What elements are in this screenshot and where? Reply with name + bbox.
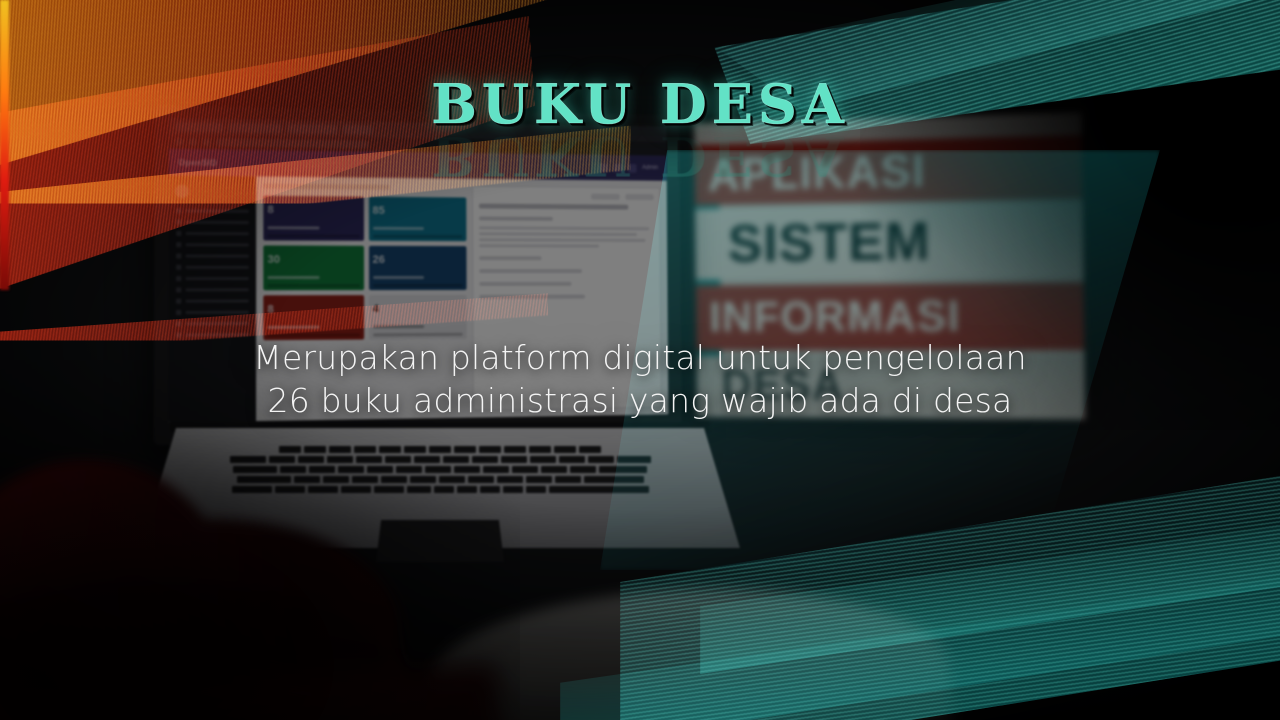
slide-body-line-1: Merupakan platform digital untuk pengelo… (0, 337, 1280, 380)
slide-body-line-2: 26 buku administrasi yang wajib ada di d… (0, 380, 1280, 423)
slide-body: Merupakan platform digital untuk pengelo… (0, 337, 1280, 423)
slide-title: BUKU DESA (431, 72, 849, 136)
slide-canvas: APLIKASI SISTEM INFORMASI DESA (0, 0, 1280, 720)
slide-title-wrap: BUKU DESA (0, 72, 1280, 136)
text-layer: BUKU DESA BUKU DESA Merupakan platform d… (0, 0, 1280, 720)
